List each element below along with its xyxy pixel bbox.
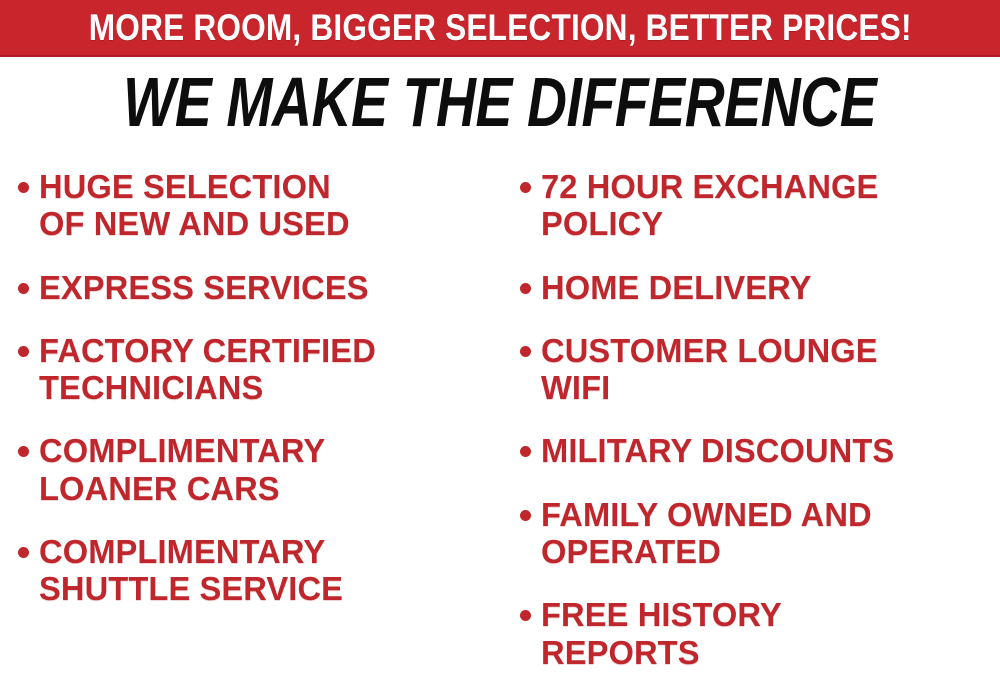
bullet-dot-icon (520, 446, 531, 457)
benefits-column-right: 72 HOUR EXCHANGE POLICY HOME DELIVERY CU… (500, 160, 1000, 694)
bullet-dot-icon (18, 283, 29, 294)
headline-area: WE MAKE THE DIFFERENCE (0, 64, 1000, 140)
bullet-dot-icon (18, 446, 29, 457)
list-item-label: FREE HISTORY REPORTS (541, 596, 782, 671)
list-item-label: FACTORY CERTIFIED TECHNICIANS (39, 332, 376, 407)
list-item-label: COMPLIMENTARY SHUTTLE SERVICE (39, 533, 343, 608)
bullet-dot-icon (520, 510, 531, 521)
list-item: 72 HOUR EXCHANGE POLICY (520, 168, 1000, 243)
list-item-label: 72 HOUR EXCHANGE POLICY (541, 168, 878, 243)
list-item: COMPLIMENTARY SHUTTLE SERVICE (18, 533, 500, 608)
list-item: HUGE SELECTION OF NEW AND USED (18, 168, 500, 243)
bullet-dot-icon (520, 283, 531, 294)
benefits-columns: HUGE SELECTION OF NEW AND USED EXPRESS S… (0, 160, 1000, 694)
list-item-label: MILITARY DISCOUNTS (541, 432, 894, 469)
bullet-dot-icon (18, 346, 29, 357)
list-item-label: HUGE SELECTION OF NEW AND USED (39, 168, 350, 243)
list-item-label: FAMILY OWNED AND OPERATED (541, 496, 872, 571)
bullet-dot-icon (520, 346, 531, 357)
list-item-label: CUSTOMER LOUNGE WIFI (541, 332, 878, 407)
list-item-label: HOME DELIVERY (541, 269, 812, 306)
list-item: MILITARY DISCOUNTS (520, 432, 1000, 469)
list-item: CUSTOMER LOUNGE WIFI (520, 332, 1000, 407)
list-item: FAMILY OWNED AND OPERATED (520, 496, 1000, 571)
bullet-dot-icon (18, 547, 29, 558)
list-item: HOME DELIVERY (520, 269, 1000, 306)
banner-headline-text: MORE ROOM, BIGGER SELECTION, BETTER PRIC… (89, 9, 912, 46)
bullet-dot-icon (520, 610, 531, 621)
list-item: COMPLIMENTARY LOANER CARS (18, 432, 500, 507)
promo-poster: MORE ROOM, BIGGER SELECTION, BETTER PRIC… (0, 0, 1000, 694)
list-item-label: EXPRESS SERVICES (39, 269, 369, 306)
bullet-dot-icon (18, 182, 29, 193)
list-item-label: COMPLIMENTARY LOANER CARS (39, 432, 325, 507)
top-banner: MORE ROOM, BIGGER SELECTION, BETTER PRIC… (0, 0, 1000, 57)
list-item: FACTORY CERTIFIED TECHNICIANS (18, 332, 500, 407)
bullet-dot-icon (520, 182, 531, 193)
list-item: FREE HISTORY REPORTS (520, 596, 1000, 671)
benefits-column-left: HUGE SELECTION OF NEW AND USED EXPRESS S… (0, 160, 500, 634)
page-title: WE MAKE THE DIFFERENCE (123, 67, 876, 137)
list-item: EXPRESS SERVICES (18, 269, 500, 306)
